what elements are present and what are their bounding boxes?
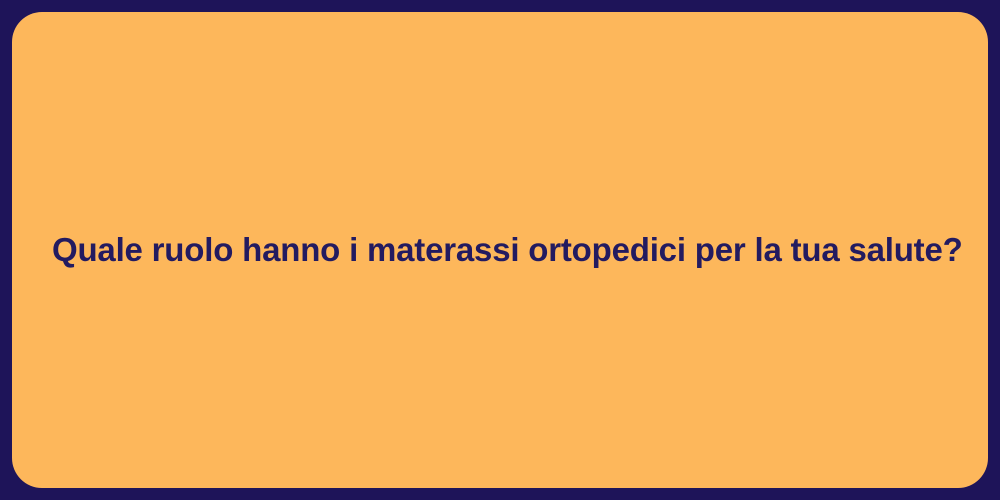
page-frame: Quale ruolo hanno i materassi ortopedici…	[0, 0, 1000, 500]
content-card: Quale ruolo hanno i materassi ortopedici…	[12, 12, 988, 488]
page-title: Quale ruolo hanno i materassi ortopedici…	[52, 229, 948, 272]
card-body: Quale ruolo hanno i materassi ortopedici…	[12, 229, 988, 272]
